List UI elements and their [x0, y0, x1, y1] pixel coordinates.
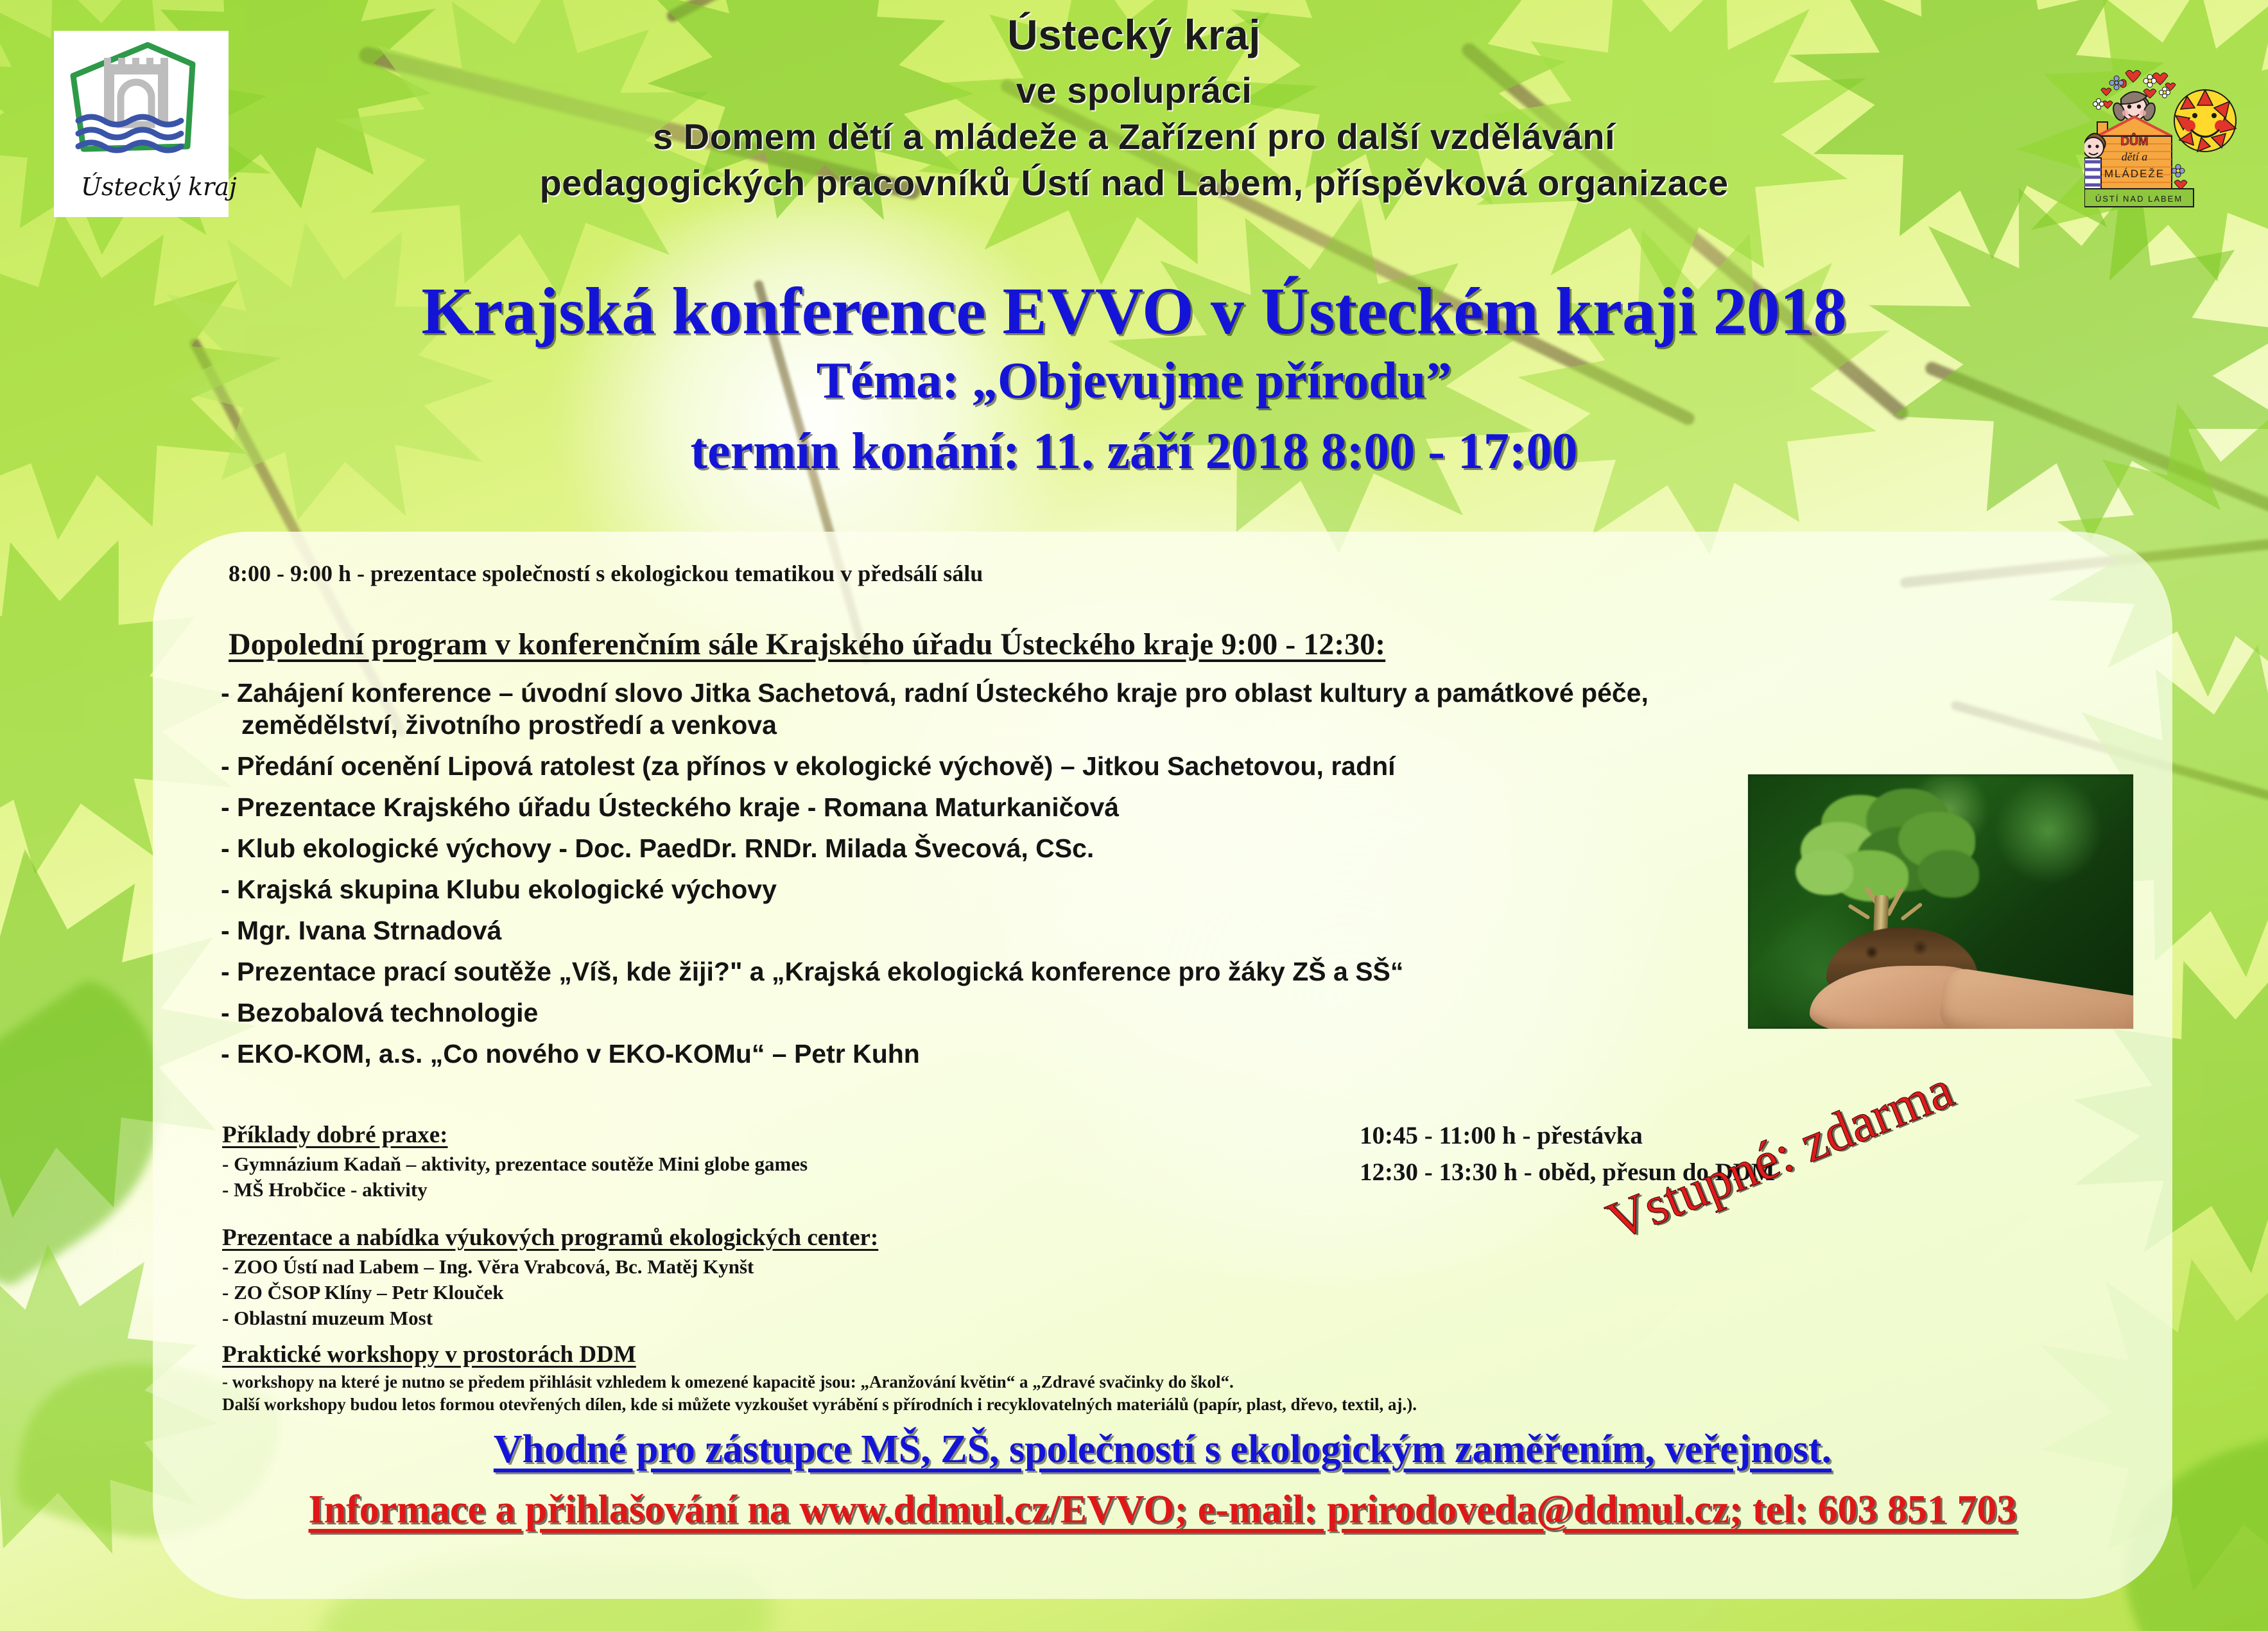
tree-in-hands-photo	[1748, 774, 2133, 1029]
eco-centres-block: Prezentace a nabídka výukových programů …	[222, 1224, 878, 1332]
eco-centres-item: - Oblastní muzeum Most	[222, 1307, 878, 1330]
eco-centres-heading: Prezentace a nabídka výukových programů …	[222, 1224, 878, 1252]
photo-tree-canopy	[1796, 789, 1979, 911]
morning-program-list: - Zahájení konference – úvodní slovo Jit…	[221, 677, 1774, 1079]
good-practice-item: - Gymnázium Kadaň – aktivity, prezentace…	[222, 1153, 808, 1176]
header-line-3: s Domem dětí a mládeže a Zařízení pro da…	[0, 116, 2268, 157]
list-item: - Prezentace Krajského úřadu Ústeckého k…	[221, 791, 1774, 823]
list-item: - Mgr. Ivana Strnadová	[221, 914, 1774, 946]
list-item: - Prezentace prací soutěže „Víš, kde žij…	[221, 955, 1774, 988]
header-line-2: ve spolupráci	[0, 69, 2268, 111]
title-theme: Téma: „Objevujme přírodu”	[0, 352, 2268, 410]
good-practice-block: Příklady dobré praxe: - Gymnázium Kadaň …	[222, 1121, 808, 1204]
list-item: - Klub ekologické výchovy - Doc. PaedDr.…	[221, 832, 1774, 864]
eco-centres-item: - ZO ČSOP Klíny – Petr Klouček	[222, 1281, 878, 1304]
eco-centres-item: - ZOO Ústí nad Labem – Ing. Věra Vrabcov…	[222, 1255, 878, 1278]
content-panel: 8:00 - 9:00 h - prezentace společností s…	[153, 532, 2172, 1599]
header-line-4: pedagogických pracovníků Ústí nad Labem,…	[0, 162, 2268, 204]
program-item-text: - Zahájení konference – úvodní slovo Jit…	[221, 678, 1649, 708]
header-line-1: Ústecký kraj	[0, 10, 2268, 59]
list-item: - Krajská skupina Klubu ekologické výcho…	[221, 873, 1774, 905]
poster-root: Ústecký kraj	[0, 0, 2268, 1631]
workshops-heading: Praktické workshopy v prostorách DDM	[222, 1341, 1417, 1368]
workshops-item: Další workshopy budou letos formou otevř…	[222, 1395, 1417, 1415]
list-item: - EKO-KOM, a.s. „Co nového v EKO-KOMu“ –…	[221, 1038, 1774, 1070]
title-date: termín konání: 11. září 2018 8:00 - 17:0…	[0, 423, 2268, 481]
workshops-item: - workshopy na které je nutno se předem …	[222, 1372, 1417, 1392]
list-item: - Předání ocenění Lipová ratolest (za př…	[221, 750, 1774, 782]
good-practice-item: - MŠ Hrobčice - aktivity	[222, 1178, 808, 1201]
good-practice-heading: Příklady dobré praxe:	[222, 1121, 808, 1149]
workshops-block: Praktické workshopy v prostorách DDM - w…	[222, 1341, 1417, 1417]
break-time-item: 10:45 - 11:00 h - přestávka	[1360, 1121, 1775, 1150]
registration-line: 8:00 - 9:00 h - prezentace společností s…	[229, 560, 983, 587]
morning-program-heading: Dopolední program v konferenčním sále Kr…	[229, 627, 1385, 662]
list-item: - Zahájení konference – úvodní slovo Jit…	[221, 677, 1774, 741]
footer-contact: Informace a přihlašování na www.ddmul.cz…	[153, 1487, 2172, 1533]
page-title: Krajská konference EVVO v Ústeckém kraji…	[0, 273, 2268, 349]
list-item: - Bezobalová technologie	[221, 997, 1774, 1029]
program-item-continuation: zemědělství, životního prostředí a venko…	[221, 709, 1774, 741]
footer-audience: Vhodné pro zástupce MŠ, ZŠ, společností …	[153, 1427, 2172, 1472]
